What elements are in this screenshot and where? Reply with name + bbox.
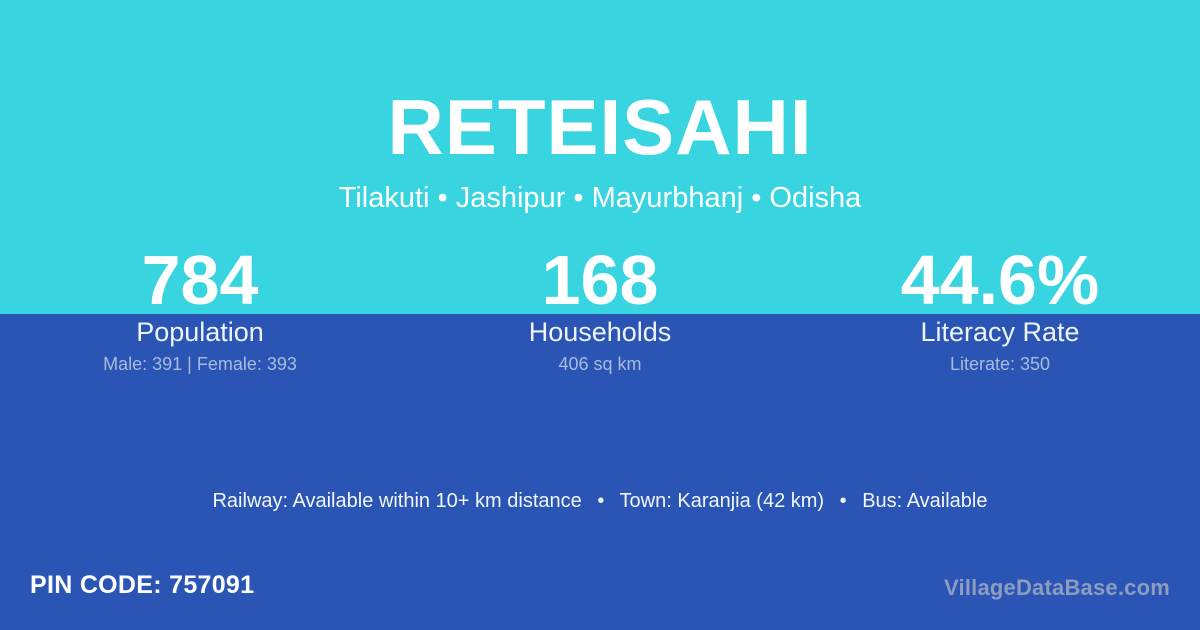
stat-population: 784 Population Male: 391 | Female: 393 bbox=[0, 246, 400, 375]
stat-households: 168 Households 406 sq km bbox=[400, 246, 800, 375]
stat-literacy-rate-detail: Literate: 350 bbox=[800, 353, 1200, 375]
amenities-line: Railway: Available within 10+ km distanc… bbox=[0, 488, 1200, 514]
amenity-railway: Railway: Available within 10+ km distanc… bbox=[212, 490, 581, 512]
amenity-separator-1: • bbox=[587, 488, 614, 514]
amenity-bus: Bus: Available bbox=[862, 490, 987, 512]
card-footer: PIN CODE: 757091 VillageDataBase.com bbox=[0, 552, 1200, 630]
stat-literacy-rate-label: Literacy Rate bbox=[800, 316, 1200, 348]
amenity-town: Town: Karanjia (42 km) bbox=[620, 490, 825, 512]
breadcrumb: Tilakuti • Jashipur • Mayurbhanj • Odish… bbox=[0, 182, 1200, 215]
page-title: RETEISAHI bbox=[0, 88, 1200, 166]
stat-population-label: Population bbox=[0, 316, 400, 348]
pin-code-label: PIN CODE: 757091 bbox=[30, 570, 254, 600]
stats-row: 784 Population Male: 391 | Female: 393 1… bbox=[0, 246, 1200, 375]
stat-population-value: 784 bbox=[0, 246, 400, 314]
stat-literacy-rate-value: 44.6% bbox=[800, 246, 1200, 314]
stat-households-value: 168 bbox=[400, 246, 800, 314]
stat-households-label: Households bbox=[400, 316, 800, 348]
village-info-card: RETEISAHI Tilakuti • Jashipur • Mayurbha… bbox=[0, 0, 1200, 630]
site-branding: VillageDataBase.com bbox=[944, 574, 1170, 602]
stat-literacy-rate: 44.6% Literacy Rate Literate: 350 bbox=[800, 246, 1200, 375]
stat-population-detail: Male: 391 | Female: 393 bbox=[0, 353, 400, 375]
amenity-separator-2: • bbox=[830, 488, 857, 514]
stat-households-detail: 406 sq km bbox=[400, 353, 800, 375]
